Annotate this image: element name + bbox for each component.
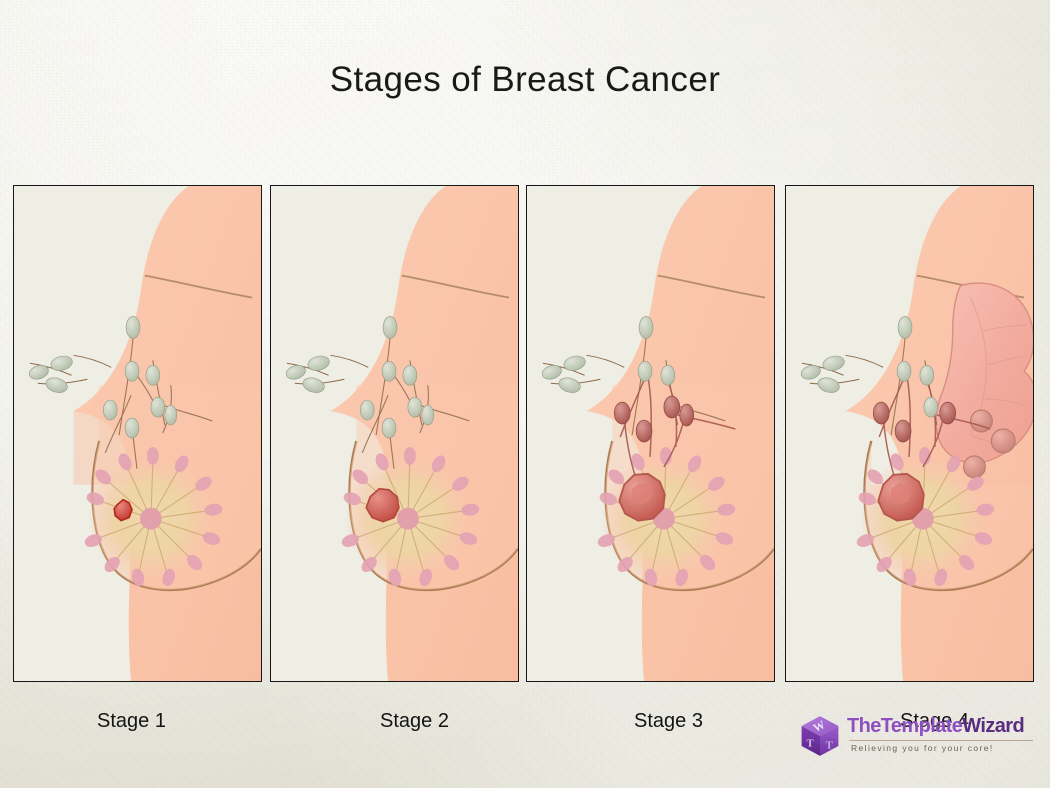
stage-3-illustration	[527, 186, 774, 681]
svg-text:T: T	[806, 738, 813, 750]
stage-panel-4[interactable]	[785, 185, 1034, 682]
nipple	[140, 508, 162, 530]
stage-panel-3[interactable]	[526, 185, 775, 682]
svg-text:T: T	[826, 739, 833, 751]
nipple	[397, 508, 419, 530]
template-wizard-logo[interactable]: W T T TheTemplateWizard Relieving you fo…	[797, 711, 1037, 763]
stage-label-2: Stage 2	[380, 710, 449, 733]
stage-2-illustration	[271, 186, 518, 681]
logo-divider	[849, 740, 1033, 741]
wizard-cube-icon: W T T	[797, 713, 843, 759]
stage-label-1: Stage 1	[97, 710, 166, 733]
stage-1-illustration	[14, 186, 261, 681]
logo-tagline: Relieving you for your core!	[851, 743, 1041, 753]
logo-name-dark: Wizard	[962, 715, 1024, 737]
logo-name-light: TheTemplate	[847, 715, 962, 737]
page-title: Stages of Breast Cancer	[0, 60, 1050, 100]
stage-4-illustration	[786, 186, 1033, 681]
stage-label-3: Stage 3	[634, 710, 703, 733]
metastatic-nodule	[964, 456, 986, 478]
slide-canvas: Stages of Breast Cancer	[0, 0, 1050, 788]
metastatic-nodule	[991, 429, 1015, 453]
stage-panel-2[interactable]	[270, 185, 519, 682]
logo-wordmark: TheTemplateWizard	[847, 715, 1037, 737]
stage-panel-1[interactable]	[13, 185, 262, 682]
